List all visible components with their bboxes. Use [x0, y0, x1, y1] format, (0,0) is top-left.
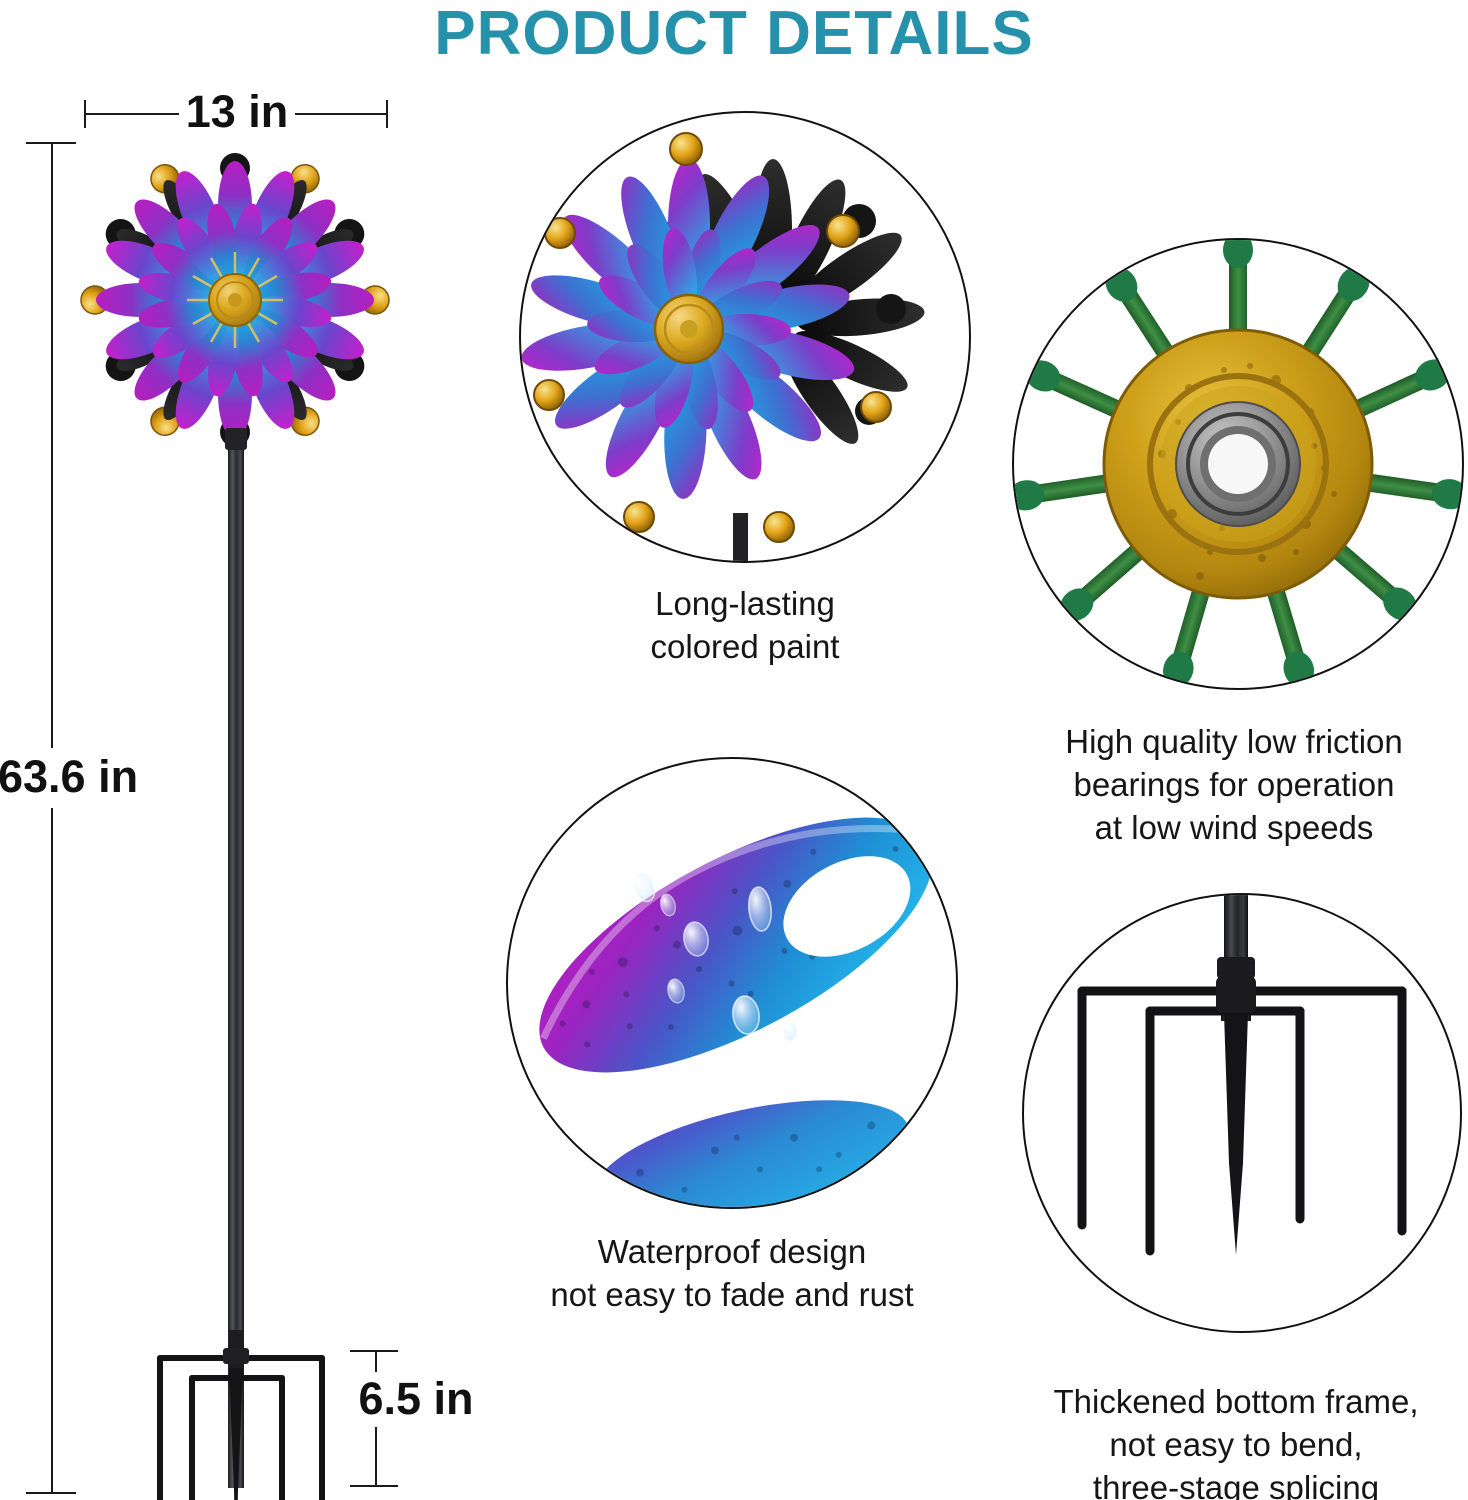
caption-paint-line-2: colored paint	[519, 626, 971, 669]
caption-frame: Thickened bottom frame, not easy to bend…	[1004, 1381, 1468, 1500]
product-main-illustration	[60, 130, 420, 1500]
product-details-infographic: PRODUCT DETAILS 13 in 63.6 in 6.5 in	[0, 0, 1468, 1500]
detail-circle-bearings	[1012, 238, 1464, 690]
caption-waterproof: Waterproof design not easy to fade and r…	[492, 1231, 972, 1317]
caption-waterproof-line-1: Waterproof design	[492, 1231, 972, 1274]
detail-circle-frame	[1022, 893, 1462, 1333]
dim-width-line-a	[84, 113, 179, 115]
caption-paint-line-1: Long-lasting	[519, 583, 971, 626]
caption-bearings-line-1: High quality low friction	[1000, 721, 1468, 764]
caption-waterproof-line-2: not easy to fade and rust	[492, 1274, 972, 1317]
dim-height-line-b	[51, 808, 53, 1494]
detail-circle-waterproof	[506, 757, 958, 1209]
caption-paint: Long-lasting colored paint	[519, 583, 971, 669]
caption-bearings-line-3: at low wind speeds	[1000, 807, 1468, 850]
caption-frame-line-3: three-stage splicing	[1004, 1467, 1468, 1500]
caption-frame-line-1: Thickened bottom frame,	[1004, 1381, 1468, 1424]
page-title: PRODUCT DETAILS	[0, 0, 1468, 69]
caption-bearings-line-2: bearings for operation	[1000, 764, 1468, 807]
dim-width-line-b	[293, 113, 388, 115]
caption-bearings: High quality low friction bearings for o…	[1000, 721, 1468, 850]
dim-height-line-a	[51, 142, 53, 750]
detail-circle-paint	[519, 111, 971, 563]
caption-frame-line-2: not easy to bend,	[1004, 1424, 1468, 1467]
